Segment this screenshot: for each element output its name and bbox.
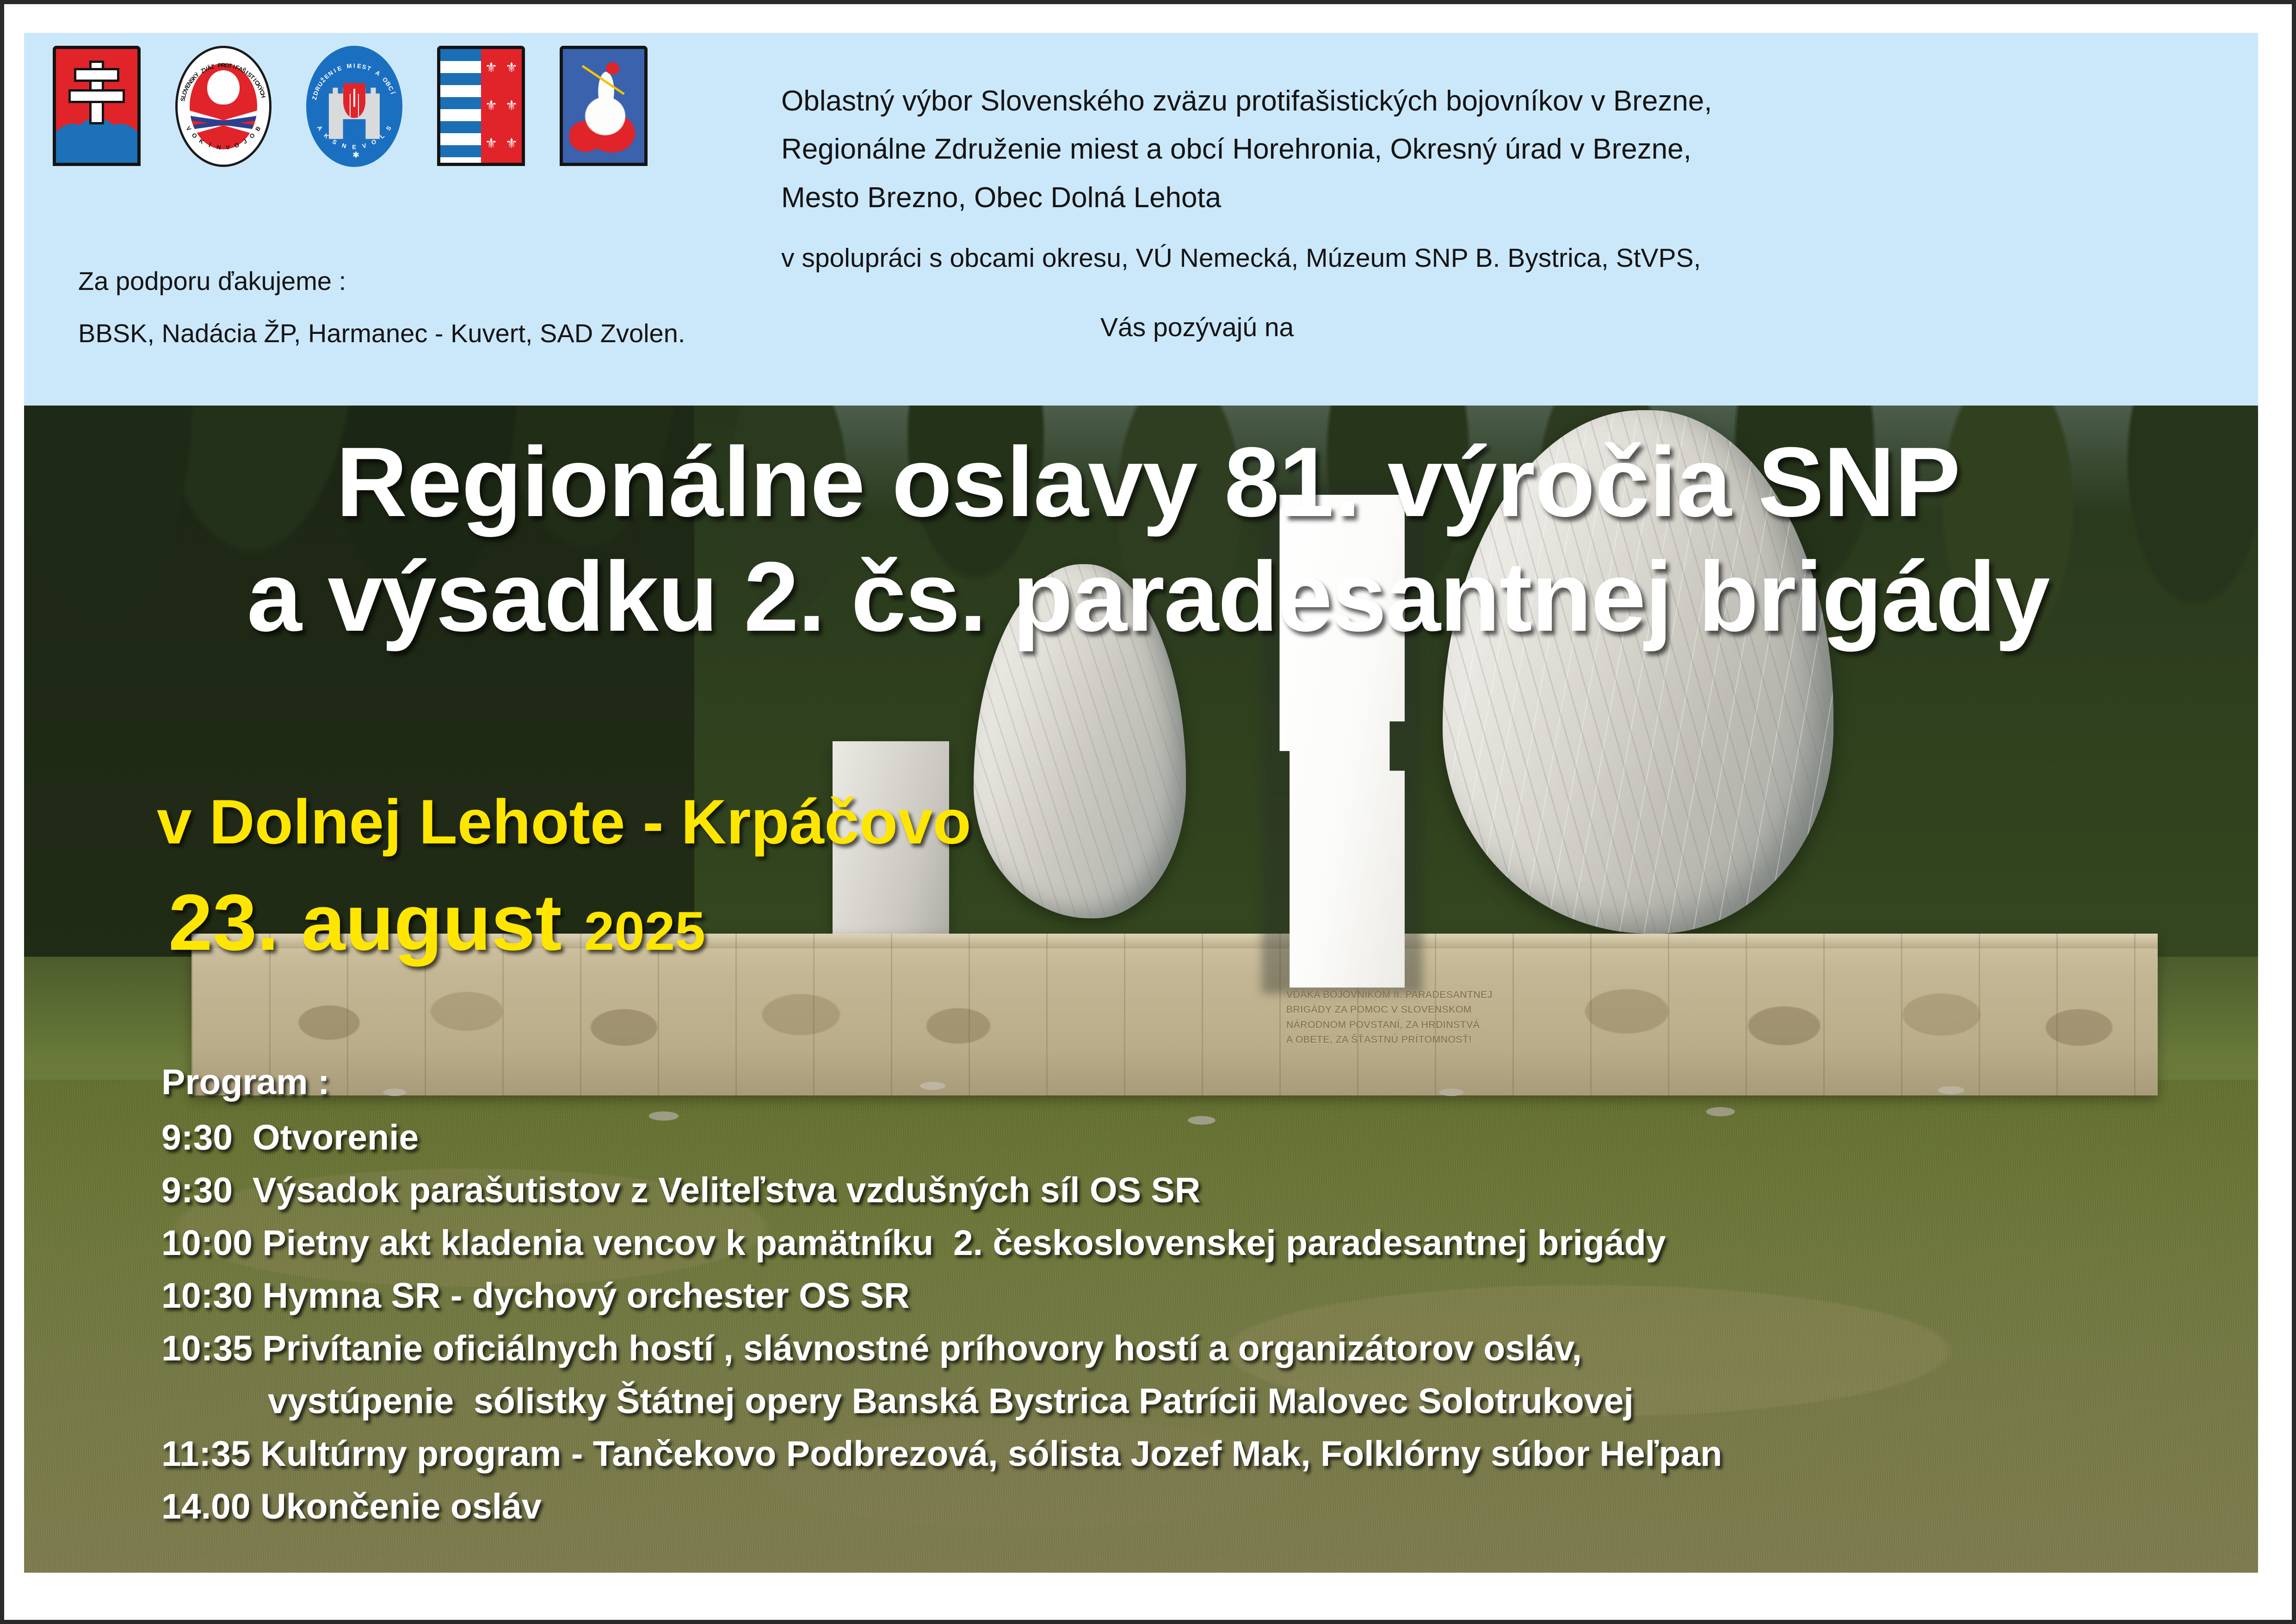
poster-root: VĎAKA BOJOVNÍKOM II. PARADESANTNEJ BRIGÁ…	[0, 0, 2296, 1624]
sponsors-label: Za podporu ďakujeme :	[78, 268, 749, 295]
double-cross-icon	[92, 63, 102, 122]
sponsors-list: BBSK, Nadácia ŽP, Harmanec - Kuvert, SAD…	[78, 320, 749, 347]
event-place: v Dolnej Lehote - Krpáčovo	[157, 786, 971, 858]
banska-bystrica-region-coat-of-arms-icon: ⚜⚜ ⚜⚜ ⚜⚜	[437, 46, 525, 166]
organizer-line-1: Oblastný výbor Slovenského zväzu protifa…	[781, 78, 2160, 124]
zmos-ring-text: ZDRUŽENIE MIEST A OBCÍ SLOVENSKA	[309, 48, 400, 165]
program-item: 14.00 Ukončenie osláv	[161, 1481, 2104, 1533]
program-item: 10:00 Pietny akt kladenia vencov k pamät…	[161, 1217, 2104, 1270]
fleur-de-lis-group-icon: ⚜⚜ ⚜⚜ ⚜⚜	[481, 49, 522, 163]
title-line-1: Regionálne oslavy 81. výročia SNP	[55, 425, 2241, 540]
blue-white-bars-icon	[440, 49, 481, 163]
szpb-ring-text: SLOVENSKÝ ZVÄZ PROTIFAŠISTICKÝCH BOJOVNÍ…	[178, 48, 269, 165]
organizer-line-3: Mesto Brezno, Obec Dolná Lehota	[781, 175, 2160, 221]
program-heading: Program :	[161, 1056, 2104, 1109]
organizers-block: Oblastný výbor Slovenského zväzu protifa…	[781, 78, 2160, 375]
program-item: vystúpenie sólistky Štátnej opery Banská…	[161, 1375, 2104, 1428]
szpb-emblem-icon: SLOVENSKÝ ZVÄZ PROTIFAŠISTICKÝCH BOJOVNÍ…	[175, 46, 272, 167]
dolna-lehota-coat-of-arms-icon	[560, 46, 648, 166]
crest-row: SLOVENSKÝ ZVÄZ PROTIFAŠISTICKÝCH BOJOVNÍ…	[53, 46, 648, 167]
page-title: Regionálne oslavy 81. výročia SNP a výsa…	[4, 425, 2292, 654]
event-date: 23. august 2025	[168, 883, 705, 962]
helmet-plume-icon	[604, 61, 622, 76]
program-item: 10:30 Hymna SR - dychový orchester OS SR	[161, 1270, 2104, 1323]
invitation-line: Vás pozývajú na	[781, 306, 2160, 349]
program-item: 9:30 Otvorenie	[161, 1112, 2104, 1164]
program-list: Program : 9:30 Otvorenie 9:30 Výsadok pa…	[161, 1056, 2104, 1533]
sponsors-block: Za podporu ďakujeme : BBSK, Nadácia ŽP, …	[78, 268, 749, 347]
program-item: 11:35 Kultúrny program - Tančekovo Podbr…	[161, 1428, 2104, 1481]
event-date-year: 2025	[584, 901, 705, 962]
three-hills-icon	[54, 120, 139, 166]
organizer-line-2: Regionálne Združenie miest a obcí Horehr…	[781, 126, 2160, 172]
event-date-day: 23. august	[168, 878, 562, 967]
program-item: 9:30 Výsadok parašutistov z Veliteľstva …	[161, 1164, 2104, 1217]
zmos-emblem-icon: ✱ ZDRUŽENIE MIEST A OBCÍ SLOVENSKA	[306, 46, 402, 167]
title-line-2: a výsadku 2. čs. paradesantnej brigády	[55, 540, 2241, 654]
cooperation-line: v spolupráci s obcami okresu, VÚ Nemecká…	[781, 237, 2160, 279]
program-item: 10:35 Privítanie oficiálnych hostí , slá…	[161, 1323, 2104, 1375]
slovak-state-coat-of-arms-icon	[53, 46, 141, 166]
